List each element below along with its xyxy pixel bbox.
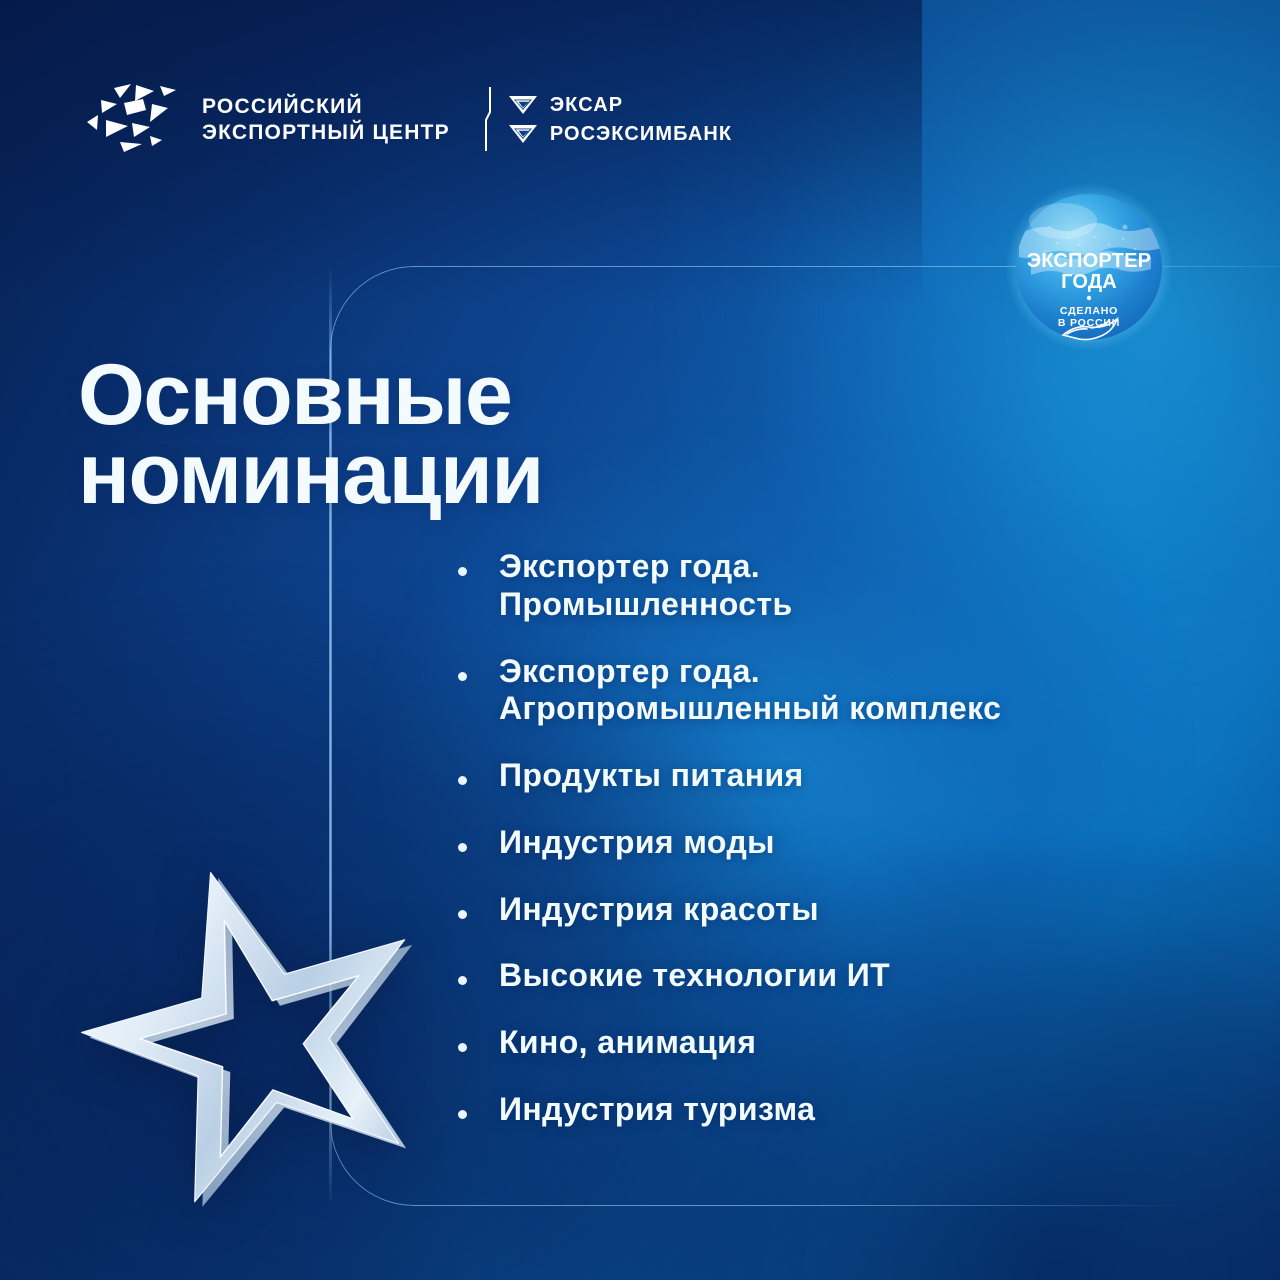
bullet-dot-icon — [458, 843, 467, 852]
list-item-text: Индустрия туризма — [499, 1091, 1248, 1129]
slide-root: РОССИЙСКИЙ ЭКСПОРТНЫЙ ЦЕНТР ЭКСАР — [0, 0, 1280, 1280]
list-item-text: Индустрия красоты — [499, 891, 1248, 929]
list-item-text: Экспортер года. Промышленность — [499, 548, 1248, 624]
brand-logo-lockup: РОССИЙСКИЙ ЭКСПОРТНЫЙ ЦЕНТР ЭКСАР — [84, 82, 732, 156]
list-item: Индустрия моды — [458, 824, 1248, 862]
vertical-divider-icon — [478, 86, 500, 152]
nominations-list: Экспортер года. Промышленность Экспортер… — [458, 548, 1248, 1158]
list-item-line: Экспортер года. — [499, 548, 1248, 586]
bullet-dot-icon — [458, 910, 467, 919]
list-item-text: Экспортер года. Агропромышленный комплек… — [499, 653, 1248, 729]
list-item: Высокие технологии ИТ — [458, 957, 1248, 995]
list-item-line: Продукты питания — [499, 757, 1248, 795]
rec-wordmark: РОССИЙСКИЙ ЭКСПОРТНЫЙ ЦЕНТР — [202, 96, 450, 143]
list-item-line: Агропромышленный комплекс — [499, 690, 1248, 728]
list-item: Экспортер года. Промышленность — [458, 548, 1248, 624]
list-item: Кино, анимация — [458, 1024, 1248, 1062]
bullet-dot-icon — [458, 776, 467, 785]
badge-subtitle-line1: СДЕЛАНО — [1060, 305, 1118, 317]
list-item-line: Индустрия моды — [499, 824, 1248, 862]
page-title-line2: номинации — [78, 435, 738, 514]
list-item-text: Индустрия моды — [499, 824, 1248, 862]
list-item-line: Экспортер года. — [499, 653, 1248, 691]
list-item-text: Высокие технологии ИТ — [499, 957, 1248, 995]
list-item-text: Продукты питания — [499, 757, 1248, 795]
bullet-dot-icon — [458, 672, 467, 681]
bullet-dot-icon — [458, 1043, 467, 1052]
exporter-of-the-year-badge: ЭКСПОРТЕР ГОДА СДЕЛАНО В РОССИИ — [1005, 183, 1173, 351]
list-item-line: Индустрия красоты — [499, 891, 1248, 929]
list-item-line: Промышленность — [499, 586, 1248, 624]
list-item-line: Кино, анимация — [499, 1024, 1248, 1062]
page-title: Основные номинации — [78, 356, 738, 514]
outlined-3d-star-icon — [58, 858, 458, 1228]
bullet-dot-icon — [458, 1110, 467, 1119]
rec-shards-logo-icon — [84, 82, 188, 156]
sub-brand-exar-label: ЭКСАР — [550, 95, 623, 115]
list-item: Продукты питания — [458, 757, 1248, 795]
list-item-line: Индустрия туризма — [499, 1091, 1248, 1129]
list-item: Экспортер года. Агропромышленный комплек… — [458, 653, 1248, 729]
bullet-dot-icon — [458, 567, 467, 576]
sub-brand-list: ЭКСАР РОСЭКСИМБАНК — [508, 94, 732, 144]
list-item: Индустрия туризма — [458, 1091, 1248, 1129]
sub-brand-roseximbank-label: РОСЭКСИМБАНК — [550, 124, 732, 144]
sub-brand-roseximbank: РОСЭКСИМБАНК — [508, 123, 732, 144]
rec-wordmark-line1: РОССИЙСКИЙ — [202, 96, 450, 117]
list-item: Индустрия красоты — [458, 891, 1248, 929]
badge-title-line1: ЭКСПОРТЕР — [1027, 250, 1151, 272]
dot-separator-icon — [1087, 296, 1091, 300]
rec-wordmark-line2: ЭКСПОРТНЫЙ ЦЕНТР — [202, 122, 450, 143]
list-item-line: Высокие технологии ИТ — [499, 957, 1248, 995]
sub-brand-exar: ЭКСАР — [508, 94, 732, 115]
badge-title-line2: ГОДА — [1061, 271, 1117, 293]
triangle-down-icon — [508, 123, 538, 144]
triangle-down-icon — [508, 94, 538, 115]
bullet-dot-icon — [458, 976, 467, 985]
list-item-text: Кино, анимация — [499, 1024, 1248, 1062]
